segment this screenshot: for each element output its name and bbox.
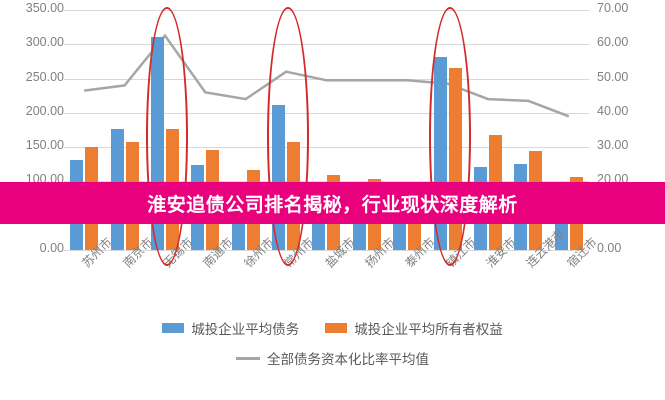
y-axis-left-tick: 0.00	[40, 241, 64, 255]
y-axis-left-tick: 200.00	[26, 104, 64, 118]
y-axis-right-tick: 0.00	[597, 241, 621, 255]
legend-label: 城投企业平均所有者权益	[354, 318, 503, 338]
legend-label: 城投企业平均债务	[191, 318, 299, 338]
y-axis-right-tick: 70.00	[597, 1, 628, 15]
highlight-ellipse	[267, 7, 309, 266]
legend-swatch-icon	[236, 357, 260, 360]
y-axis-left-tick: 150.00	[26, 138, 64, 152]
y-axis-left-tick: 300.00	[26, 35, 64, 49]
y-axis-right-tick: 50.00	[597, 70, 628, 84]
y-axis-left-tick: 250.00	[26, 70, 64, 84]
y-axis-right-tick: 40.00	[597, 104, 628, 118]
y-axis-left-tick: 350.00	[26, 1, 64, 15]
y-axis-right-tick: 30.00	[597, 138, 628, 152]
overlay-banner: 淮安追债公司排名揭秘，行业现状深度解析	[0, 182, 665, 224]
chart-container: 0.0050.00100.00150.00200.00250.00300.003…	[0, 0, 665, 400]
highlight-ellipse	[429, 7, 471, 266]
chart-legend: 城投企业平均债务城投企业平均所有者权益 全部债务资本化比率平均值	[0, 318, 665, 368]
y-axis-right-tick: 60.00	[597, 35, 628, 49]
legend-item[interactable]: 全部债务资本化比率平均值	[236, 348, 429, 368]
legend-item[interactable]: 城投企业平均债务	[162, 318, 299, 338]
legend-item[interactable]: 城投企业平均所有者权益	[325, 318, 503, 338]
legend-swatch-icon	[162, 323, 184, 333]
legend-swatch-icon	[325, 323, 347, 333]
legend-label: 全部债务资本化比率平均值	[267, 348, 429, 368]
banner-text: 淮安追债公司排名揭秘，行业现状深度解析	[147, 190, 518, 217]
highlight-ellipse	[146, 7, 188, 266]
